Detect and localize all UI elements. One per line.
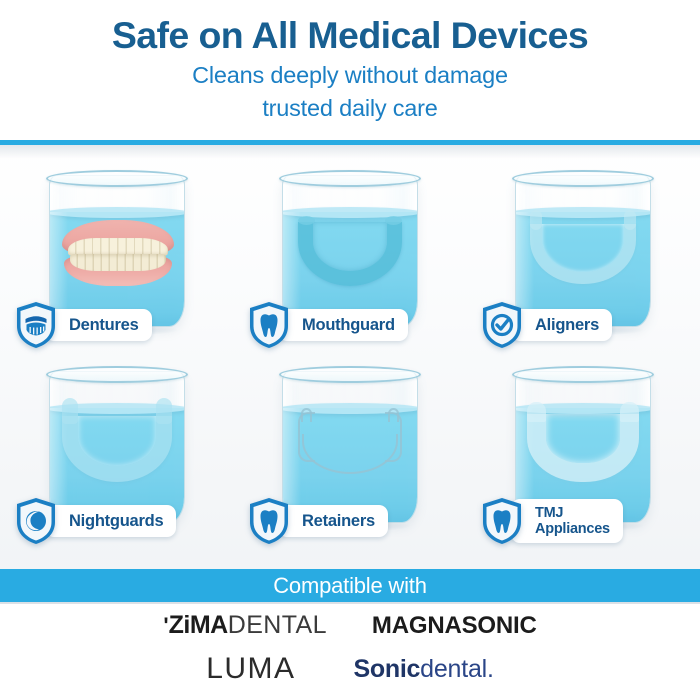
brand-row-1: 'ZiMADENTAL MAGNASONIC bbox=[0, 611, 700, 640]
glass-rim bbox=[46, 366, 188, 383]
badge-mouthguard[interactable]: Mouthguard bbox=[247, 301, 408, 349]
shield-tooth-icon bbox=[247, 497, 291, 545]
zima-bold-part: ZiMA bbox=[169, 611, 228, 640]
badge-label: Aligners bbox=[535, 317, 599, 334]
badge-label: Nightguards bbox=[69, 513, 163, 530]
sonic-light-part: dental. bbox=[420, 655, 494, 684]
device-grid: Dentures bbox=[0, 159, 700, 569]
glass-rim bbox=[279, 170, 421, 187]
brand-logo-magnasonic: MAGNASONIC bbox=[372, 612, 537, 640]
product-infographic: Safe on All Medical Devices Cleans deepl… bbox=[0, 0, 700, 700]
badge-label: Dentures bbox=[69, 317, 139, 334]
shield-moon-icon bbox=[14, 497, 58, 545]
glass-rim bbox=[279, 366, 421, 383]
badge-label: Retainers bbox=[302, 513, 375, 530]
glass-rim bbox=[512, 366, 654, 383]
badge-pill: TMJ Appliances bbox=[511, 499, 623, 543]
device-card-nightguards[interactable]: Nightguards bbox=[0, 355, 233, 551]
badge-dentures[interactable]: Dentures bbox=[14, 301, 152, 349]
badge-retainers[interactable]: Retainers bbox=[247, 497, 388, 545]
brand-logo-zimadental: 'ZiMADENTAL bbox=[163, 611, 327, 640]
badge-pill: Mouthguard bbox=[278, 309, 408, 341]
shield-tooth-icon bbox=[480, 497, 524, 545]
subtitle-line-2: trusted daily care bbox=[0, 93, 700, 123]
device-card-retainers[interactable]: Retainers bbox=[233, 355, 466, 551]
glass-rim bbox=[512, 170, 654, 187]
badge-pill: Aligners bbox=[511, 309, 612, 341]
badge-pill: Dentures bbox=[45, 309, 152, 341]
compatible-with-bar: Compatible with bbox=[0, 569, 700, 602]
brand-logos: 'ZiMADENTAL MAGNASONIC LUMA Sonicdental. bbox=[0, 604, 700, 700]
badge-aligners[interactable]: Aligners bbox=[480, 301, 612, 349]
header-divider-shadow bbox=[0, 145, 700, 159]
device-card-mouthguard[interactable]: Mouthguard bbox=[233, 159, 466, 355]
badge-label: Mouthguard bbox=[302, 317, 395, 334]
magnasonic-text: MAGNASONIC bbox=[372, 612, 537, 640]
badge-pill: Retainers bbox=[278, 505, 388, 537]
zima-light-part: DENTAL bbox=[228, 611, 327, 640]
shield-tooth-icon bbox=[247, 301, 291, 349]
shield-denture-icon bbox=[14, 301, 58, 349]
device-card-dentures[interactable]: Dentures bbox=[0, 159, 233, 355]
sonic-bold-part: Sonic bbox=[354, 655, 421, 684]
glass-rim bbox=[46, 170, 188, 187]
header: Safe on All Medical Devices Cleans deepl… bbox=[0, 0, 700, 140]
luma-text: LUMA bbox=[206, 652, 295, 686]
badge-pill: Nightguards bbox=[45, 505, 176, 537]
subtitle-line-1: Cleans deeply without damage bbox=[0, 60, 700, 90]
brand-row-2: LUMA Sonicdental. bbox=[0, 652, 700, 686]
device-card-aligners[interactable]: Aligners bbox=[466, 159, 699, 355]
compatible-with-label: Compatible with bbox=[273, 573, 427, 599]
badge-nightguards[interactable]: Nightguards bbox=[14, 497, 176, 545]
brand-logo-sonicdental: Sonicdental. bbox=[354, 655, 494, 684]
badge-label: TMJ Appliances bbox=[535, 505, 610, 537]
page-title: Safe on All Medical Devices bbox=[0, 13, 700, 57]
device-card-tmj-appliances[interactable]: TMJ Appliances bbox=[466, 355, 699, 551]
badge-tmj-appliances[interactable]: TMJ Appliances bbox=[480, 497, 623, 545]
brand-logo-luma: LUMA bbox=[206, 652, 353, 686]
shield-check-icon bbox=[480, 301, 524, 349]
